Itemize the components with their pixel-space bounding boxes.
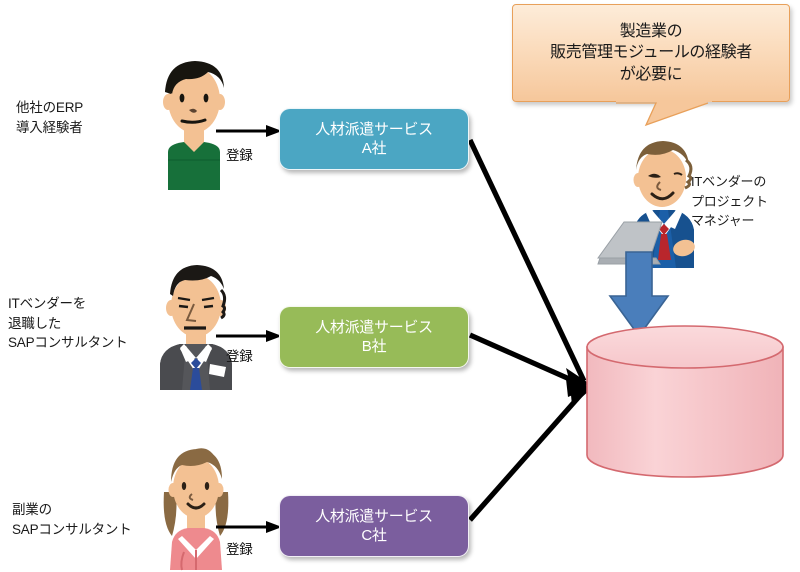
registration-arrow-row-2: [216, 327, 282, 347]
registration-label-row-1: 登録: [226, 144, 253, 164]
requirement-callout: 製造業の 販売管理モジュールの経験者 が必要に: [512, 4, 800, 124]
registration-arrow-row-3: [216, 518, 282, 538]
agency-box-c[interactable]: 人材派遣サービス C社: [279, 495, 469, 557]
registration-label-row-2: 登録: [226, 345, 253, 365]
cylinder-shape: [585, 325, 785, 477]
agency-box-a[interactable]: 人材派遣サービス A社: [279, 108, 469, 170]
agency-box-c-label: 人材派遣サービス C社: [315, 507, 433, 546]
pm-label: ITベンダーの プロジェクト マネジャー: [691, 172, 800, 231]
agency-box-b-label: 人材派遣サービス B社: [315, 318, 433, 357]
callout-tail: [616, 100, 712, 128]
registration-label-row-3: 登録: [226, 538, 253, 558]
callout-body: 製造業の 販売管理モジュールの経験者 が必要に: [512, 4, 790, 102]
person-label-row-1: 他社のERP 導入経験者: [16, 98, 166, 137]
callout-text: 製造業の 販売管理モジュールの経験者 が必要に: [550, 21, 752, 86]
agency-box-a-label: 人材派遣サービス A社: [315, 120, 433, 159]
agency-box-b[interactable]: 人材派遣サービス B社: [279, 306, 469, 368]
flow-arrow-c-to-db: [470, 391, 584, 520]
freelance-database-cylinder[interactable]: フリーランスの SAPコンサルタントの 検索DB: [585, 325, 785, 477]
man-green-shirt-icon: [148, 48, 240, 190]
registration-arrow-row-1: [216, 122, 282, 142]
man-gray-suit-icon: [148, 258, 244, 390]
diagram-canvas: 他社のERP 導入経験者 登録 人材派遣サービス A社 ITベンダーを 退職した…: [0, 0, 800, 572]
